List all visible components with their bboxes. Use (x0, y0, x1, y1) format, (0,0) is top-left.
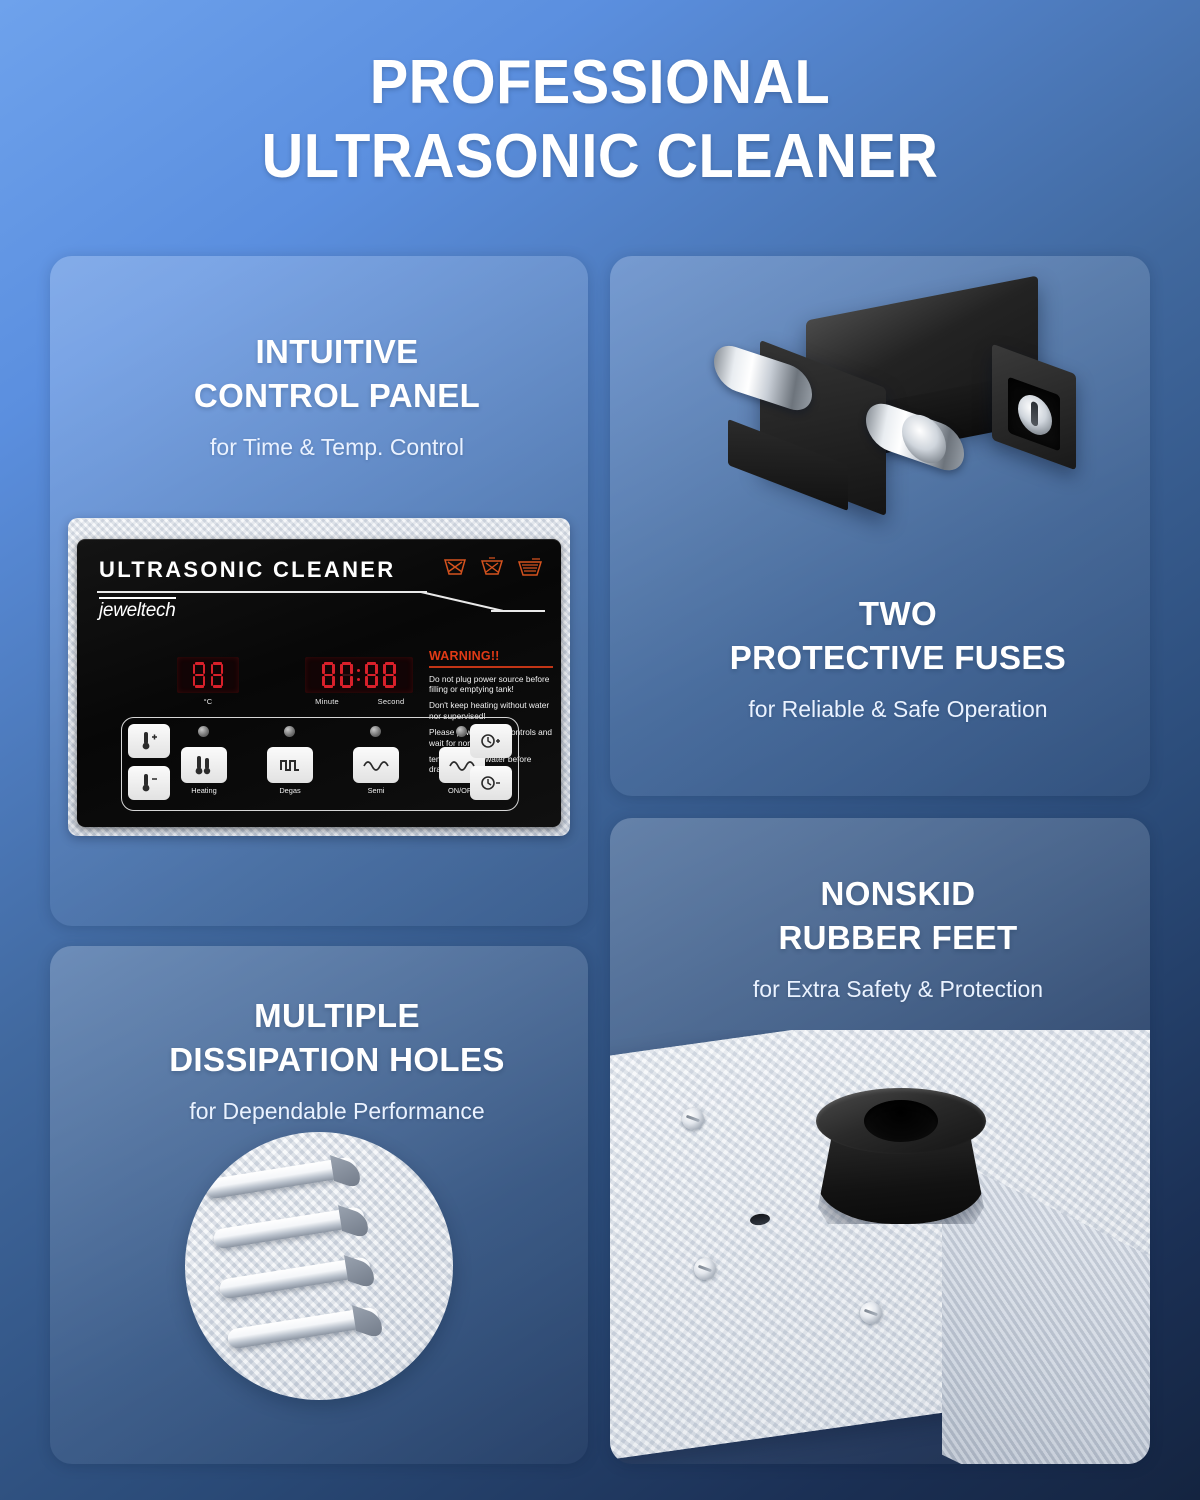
minute-label: Minute (301, 697, 353, 706)
led-colon (357, 662, 361, 688)
led-digit (364, 662, 379, 688)
rubber-feet-text: NONSKID RUBBER FEET for Extra Safety & P… (610, 872, 1150, 1005)
heating-label: Heating (172, 786, 236, 795)
heating-button[interactable] (181, 747, 227, 783)
temperature-unit-label: °C (177, 697, 239, 706)
panel-divider-rule-2 (491, 610, 545, 612)
card-subtitle: for Time & Temp. Control (68, 431, 588, 463)
warning-line: Do not plug power source before filling … (429, 674, 553, 695)
wash-tub-icon (517, 557, 543, 577)
timer-down-button[interactable] (470, 766, 512, 800)
warning-rule (429, 666, 553, 668)
timer-up-button[interactable] (470, 724, 512, 758)
fuses-text: TWO PROTECTIVE FUSES for Reliable & Safe… (610, 592, 1150, 725)
button-bar: Heating Degas Semi ON/OFF (121, 717, 519, 811)
degas-label: Degas (258, 786, 322, 795)
card-heading-line-1: MULTIPLE (68, 994, 588, 1038)
temp-down-button[interactable] (128, 766, 170, 800)
semi-button[interactable] (353, 747, 399, 783)
temperature-display (177, 657, 239, 693)
second-label: Second (365, 697, 417, 706)
card-heading-line-2: RUBBER FEET (628, 916, 1150, 960)
feature-card-rubber-feet: NONSKID RUBBER FEET for Extra Safety & P… (610, 818, 1150, 1464)
semi-label: Semi (344, 786, 408, 795)
fuse-holder-photo (610, 256, 1150, 586)
card-heading-line-2: CONTROL PANEL (68, 374, 588, 418)
led-digit (210, 662, 225, 688)
card-heading-line-1: INTUITIVE (68, 330, 588, 374)
vent-louver (226, 1306, 379, 1350)
dissipation-text: MULTIPLE DISSIPATION HOLES for Dependabl… (50, 994, 588, 1127)
led-digit (321, 662, 336, 688)
dissipation-holes-photo (185, 1132, 453, 1400)
warning-title: WARNING!! (429, 649, 553, 663)
led-digit (192, 662, 207, 688)
rubber-foot (808, 1082, 994, 1234)
feature-card-grid: INTUITIVE CONTROL PANEL for Time & Temp.… (50, 256, 1150, 1464)
rubber-feet-photo (610, 1030, 1150, 1464)
do-not-wash-icon (480, 557, 504, 577)
card-heading-line-2: PROTECTIVE FUSES (628, 636, 1150, 680)
care-symbol-group (443, 557, 543, 577)
vent-louver (212, 1206, 365, 1250)
feature-card-dissipation-holes: MULTIPLE DISSIPATION HOLES for Dependabl… (50, 946, 588, 1464)
control-panel-text: INTUITIVE CONTROL PANEL for Time & Temp.… (50, 330, 588, 463)
no-bleach-icon (443, 557, 467, 577)
heating-indicator-lamp (198, 726, 209, 737)
rubber-foot-bore (864, 1100, 938, 1142)
feature-card-control-panel: INTUITIVE CONTROL PANEL for Time & Temp.… (50, 256, 588, 926)
panel-title: ULTRASONIC CLEANER (99, 557, 395, 583)
card-heading-line-1: NONSKID (628, 872, 1150, 916)
vent-louver (204, 1156, 357, 1200)
page-title: PROFESSIONAL ULTRASONIC CLEANER (0, 46, 1200, 194)
card-heading-line-2: DISSIPATION HOLES (68, 1038, 588, 1082)
panel-face: ULTRASONIC CLEANER jeweltech (77, 539, 561, 827)
degas-button[interactable] (267, 747, 313, 783)
page-title-line-2: ULTRASONIC CLEANER (42, 120, 1158, 194)
card-heading-line-1: TWO (628, 592, 1150, 636)
panel-divider-rule (97, 591, 427, 593)
vent-louver (218, 1256, 371, 1300)
onoff-indicator-lamp (456, 726, 467, 737)
semi-indicator-lamp (370, 726, 381, 737)
feature-card-fuses: TWO PROTECTIVE FUSES for Reliable & Safe… (610, 256, 1150, 796)
page-title-line-1: PROFESSIONAL (42, 46, 1158, 120)
card-subtitle: for Dependable Performance (68, 1095, 588, 1127)
control-panel-photo: ULTRASONIC CLEANER jeweltech (68, 518, 570, 836)
card-subtitle: for Reliable & Safe Operation (628, 693, 1150, 725)
vent-panel-closeup (185, 1132, 453, 1400)
temp-up-button[interactable] (128, 724, 170, 758)
timer-display (305, 657, 413, 693)
card-subtitle: for Extra Safety & Protection (628, 973, 1150, 1005)
panel-brand-logo: jeweltech (99, 597, 176, 622)
degas-indicator-lamp (284, 726, 295, 737)
led-digit (339, 662, 354, 688)
led-digit (382, 662, 397, 688)
